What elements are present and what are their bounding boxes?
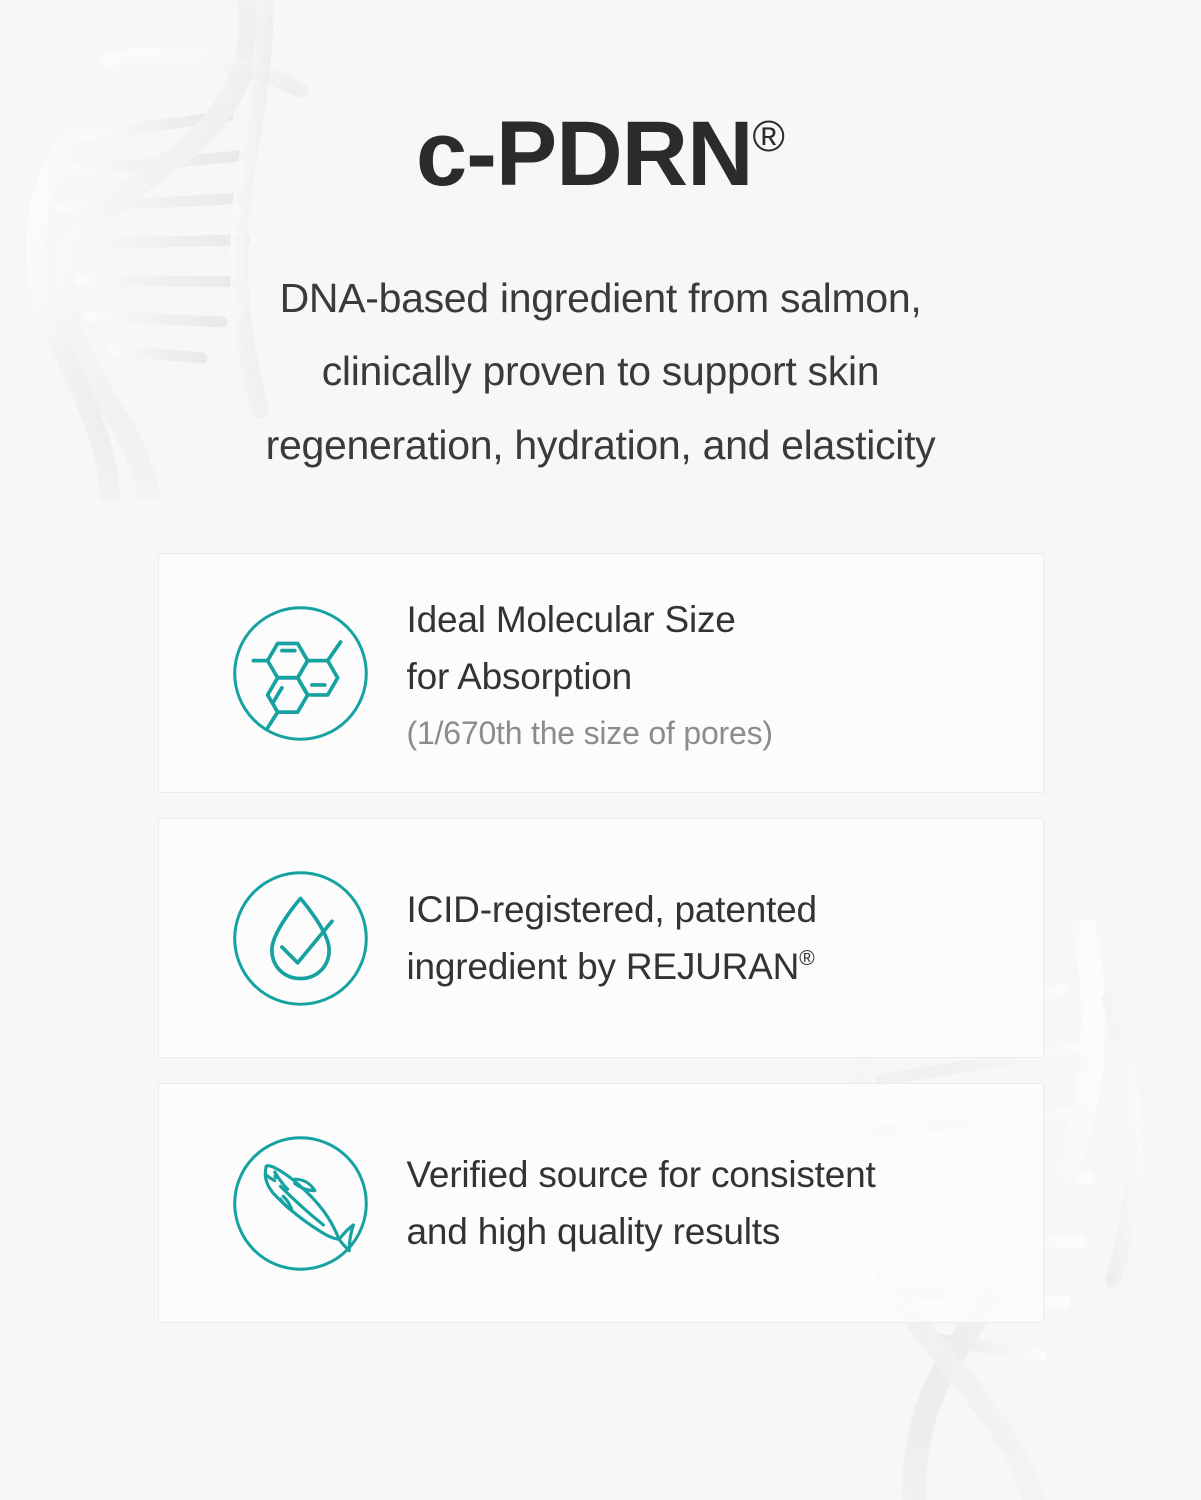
registered-trademark-symbol: ® [753,112,785,161]
feature-line-2: ingredient by REJURAN® [407,938,1019,995]
feature-card-icid-registered: ICID-registered, patented ingredient by … [158,818,1044,1058]
feature-card-molecular-size: Ideal Molecular Size for Absorption (1/6… [158,553,1044,793]
registered-trademark-symbol: ® [799,947,814,970]
molecule-icon [229,602,372,745]
subtitle-line-3: regeneration, hydration, and elasticity [0,409,1201,482]
subtitle-line-2: clinically proven to support skin [0,335,1201,408]
feature-line-1: Verified source for consistent [407,1146,1019,1203]
subtitle-line-1: DNA-based ingredient from salmon, [0,262,1201,335]
feature-text: Verified source for consistent and high … [407,1146,1043,1261]
water-drop-check-icon [229,867,372,1010]
feature-line-2: for Absorption [407,648,1019,705]
subtitle: DNA-based ingredient from salmon, clinic… [0,200,1201,482]
fish-icon [229,1132,372,1275]
feature-text: ICID-registered, patented ingredient by … [407,881,1043,996]
feature-card-verified-source: Verified source for consistent and high … [158,1083,1044,1323]
brand-name: c-PDRN [416,103,752,205]
feature-text: Ideal Molecular Size for Absorption (1/6… [407,591,1043,756]
feature-card-list: Ideal Molecular Size for Absorption (1/6… [158,482,1044,1323]
page-title: c-PDRN® [0,0,1201,200]
header: c-PDRN® DNA-based ingredient from salmon… [0,0,1201,482]
feature-line-1: ICID-registered, patented [407,881,1019,938]
feature-icon-container [221,1132,381,1275]
product-ingredient-infographic: c-PDRN® DNA-based ingredient from salmon… [0,0,1201,1500]
feature-icon-container [221,602,381,745]
feature-line-1: Ideal Molecular Size [407,591,1019,648]
feature-note: (1/670th the size of pores) [407,712,1019,755]
feature-icon-container [221,867,381,1010]
feature-line-2: and high quality results [407,1203,1019,1260]
feature-line-2-text: ingredient by REJURAN [407,946,800,987]
